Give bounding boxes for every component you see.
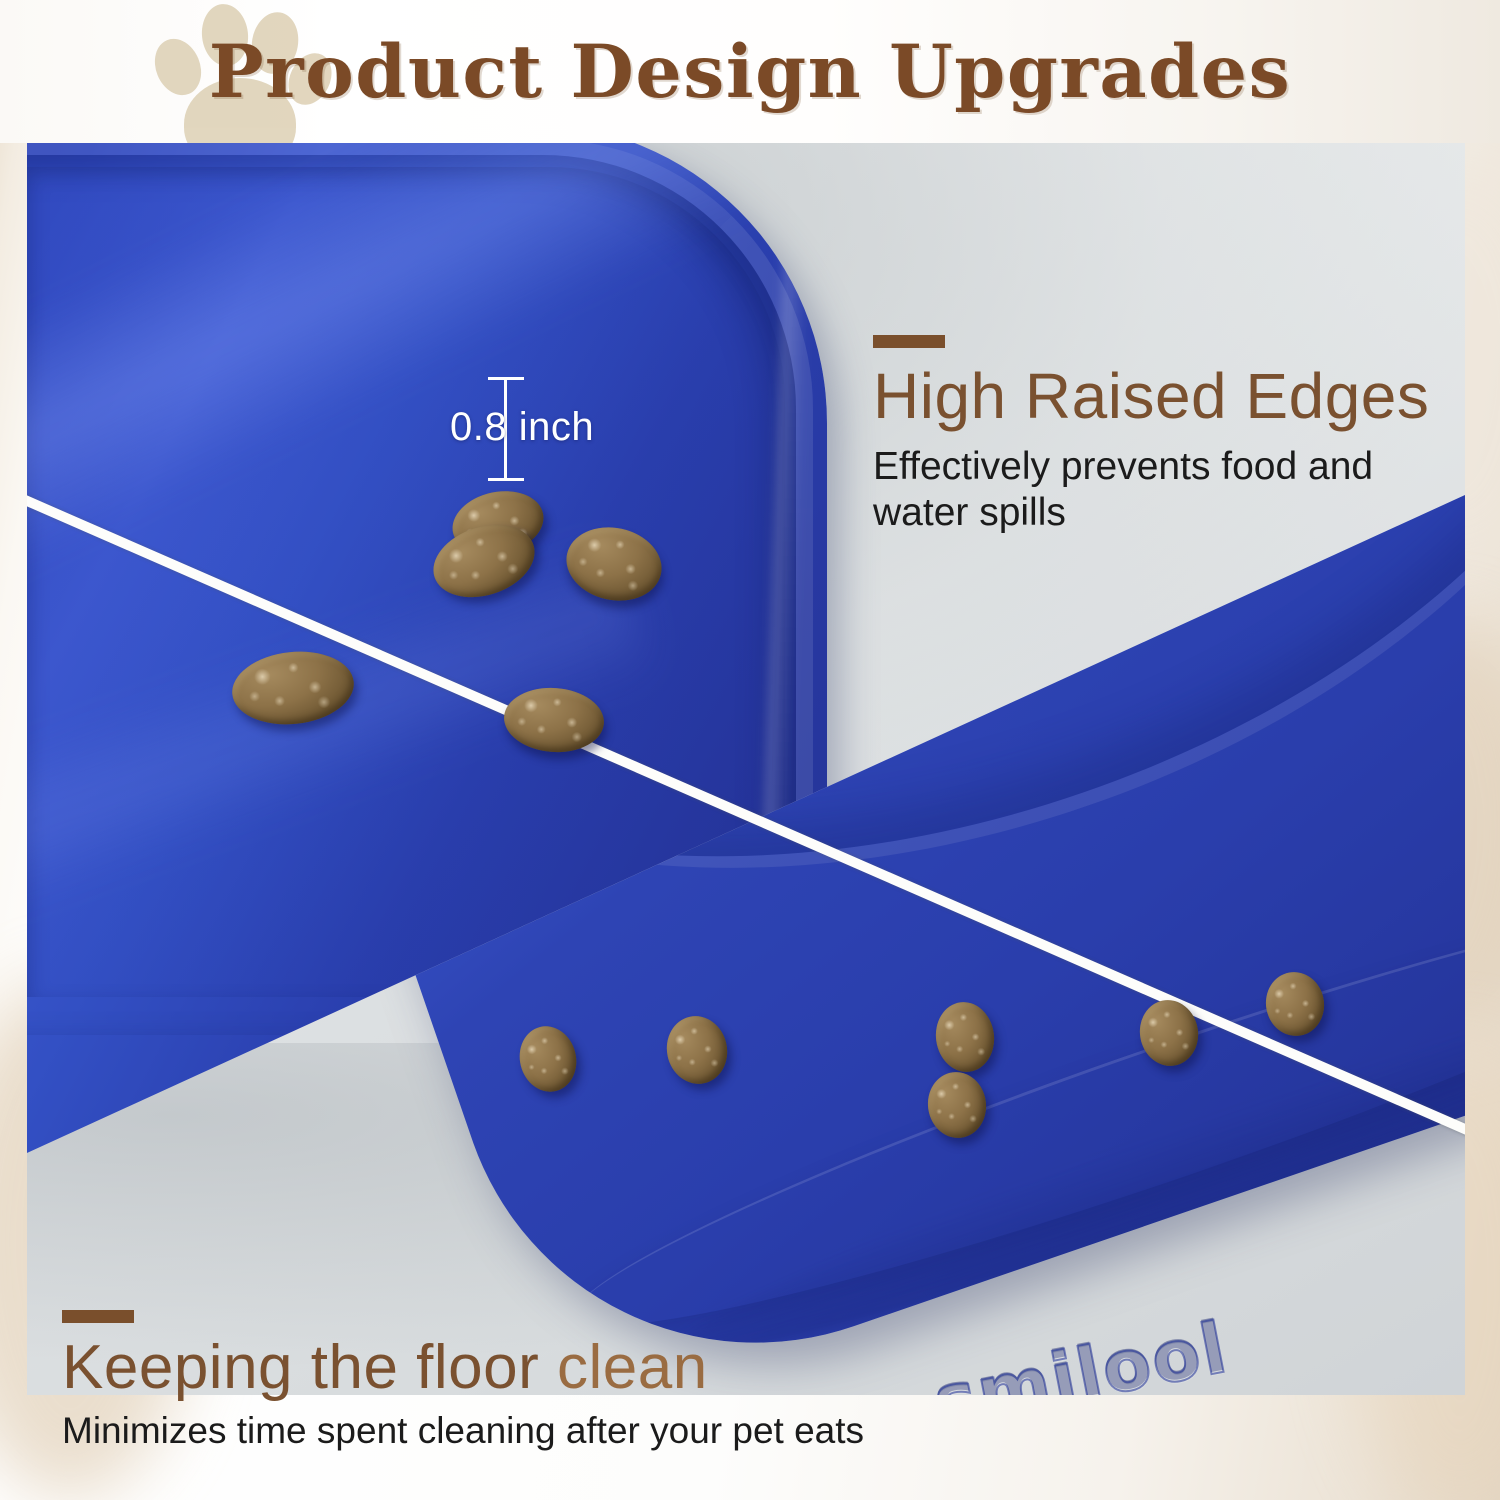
callout-heading: Keeping the floor clean	[62, 1333, 864, 1403]
accent-dash	[873, 335, 945, 348]
dimension-label: 0.8 inch	[450, 405, 594, 450]
callout-heading: High Raised Edges	[873, 360, 1465, 432]
page-title: Product Design Upgrades	[0, 0, 1500, 143]
product-photo-collage: smilool 0.8 inch High Raised Edges Effec…	[27, 143, 1465, 1395]
accent-dash	[62, 1310, 134, 1323]
dimension-cap-bottom	[488, 478, 524, 481]
header-banner: Product Design Upgrades	[0, 0, 1500, 143]
callout-heading-part1: Keeping the floor	[62, 1333, 557, 1402]
callout-high-raised-edges: High Raised Edges Effectively prevents f…	[873, 335, 1465, 536]
callout-subtext: Minimizes time spent cleaning after your…	[62, 1409, 864, 1453]
callout-keeping-floor-clean: Keeping the floor clean Minimizes time s…	[62, 1310, 864, 1453]
callout-heading-part2: clean	[557, 1333, 708, 1402]
callout-subtext: Effectively prevents food and water spil…	[873, 444, 1465, 536]
dimension-annotation: 0.8 inch	[482, 371, 682, 491]
product-infographic: Product Design Upgrades	[0, 0, 1500, 1500]
